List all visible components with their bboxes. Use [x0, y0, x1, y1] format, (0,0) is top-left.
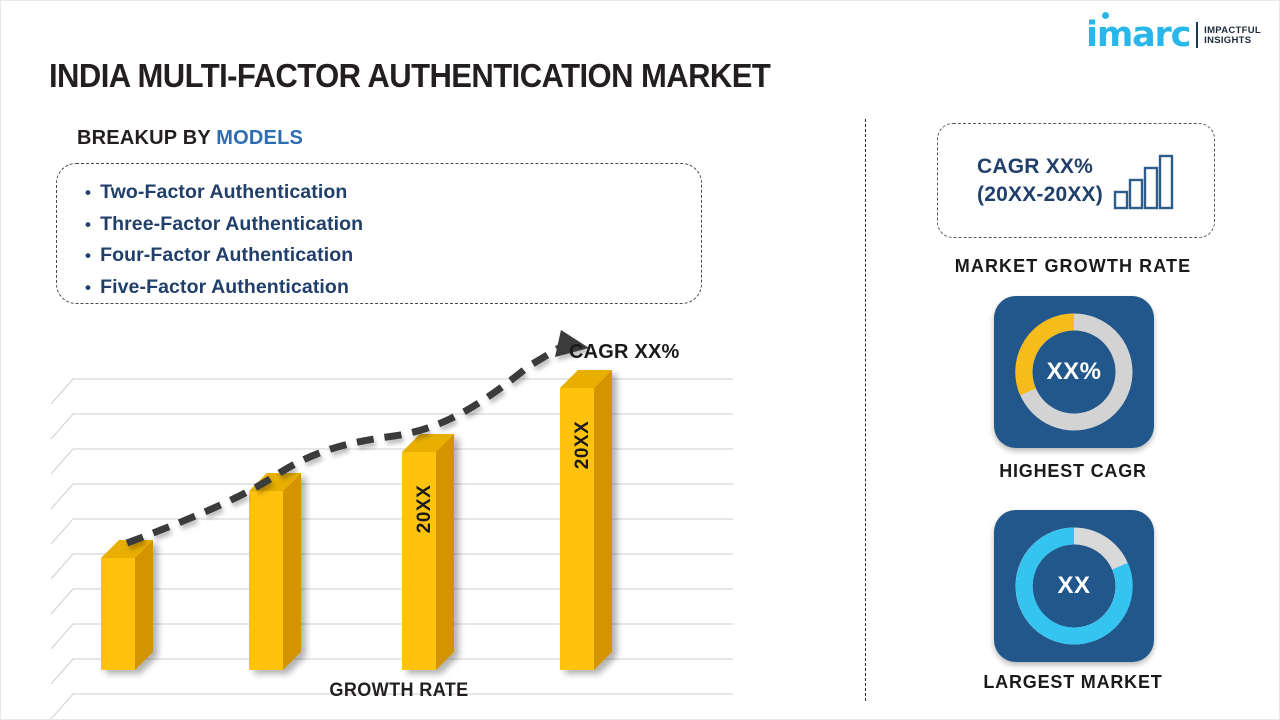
breakup-heading: BREAKUP BY MODELS [77, 127, 303, 150]
highest-cagr-caption: HIGHEST CAGR [865, 461, 1280, 482]
list-item: Four-Factor Authentication [85, 240, 701, 272]
section-divider [865, 119, 866, 701]
highest-cagr-card: XX% [994, 296, 1154, 448]
trend-arrow [127, 330, 589, 543]
bar-3 [402, 434, 454, 670]
list-item: Two-Factor Authentication [85, 177, 701, 209]
largest-market-caption: LARGEST MARKET [865, 672, 1280, 693]
logo-tagline-line2: INSIGHTS [1204, 36, 1261, 46]
chart-x-axis-label: GROWTH RATE [67, 680, 732, 702]
chart-cagr-label: CAGR XX% [569, 341, 680, 364]
breakup-heading-prefix: BREAKUP BY [77, 127, 216, 149]
bar-4 [560, 370, 612, 670]
models-list-box: Two-Factor Authentication Three-Factor A… [56, 163, 702, 304]
cagr-text: CAGR XX% (20XX-20XX) [977, 153, 1103, 209]
chart-gridlines [51, 379, 733, 719]
breakup-heading-highlight: MODELS [216, 127, 303, 149]
list-item: Five-Factor Authentication [85, 272, 701, 304]
market-growth-rate-caption: MARKET GROWTH RATE [865, 256, 1280, 277]
bar-2 [249, 473, 301, 670]
infographic-page: imarc IMPACTFUL INSIGHTS INDIA MULTI-FAC… [0, 0, 1280, 720]
logo-divider [1196, 22, 1198, 48]
largest-market-card: XX [994, 510, 1154, 662]
logo-tagline: IMPACTFUL INSIGHTS [1204, 16, 1261, 46]
bar-label-3: 20XX [414, 485, 436, 533]
imarc-logo: imarc IMPACTFUL INSIGHTS [1086, 9, 1261, 53]
chart-svg [49, 326, 759, 720]
market-growth-rate-box: CAGR XX% (20XX-20XX) [937, 123, 1215, 238]
page-title: INDIA MULTI-FACTOR AUTHENTICATION MARKET [49, 57, 770, 95]
cagr-period: (20XX-20XX) [977, 181, 1103, 209]
largest-market-value: XX [994, 510, 1154, 662]
bar-label-4: 20XX [572, 421, 594, 469]
bar-1 [101, 540, 153, 670]
highest-cagr-value: XX% [994, 296, 1154, 448]
models-list: Two-Factor Authentication Three-Factor A… [57, 164, 701, 303]
cagr-value: CAGR XX% [977, 153, 1103, 181]
ascending-bars-icon [1113, 150, 1175, 212]
logo-dot-icon [1102, 12, 1109, 19]
list-item: Three-Factor Authentication [85, 209, 701, 241]
growth-bar-chart: 20XX 20XX [49, 326, 759, 720]
